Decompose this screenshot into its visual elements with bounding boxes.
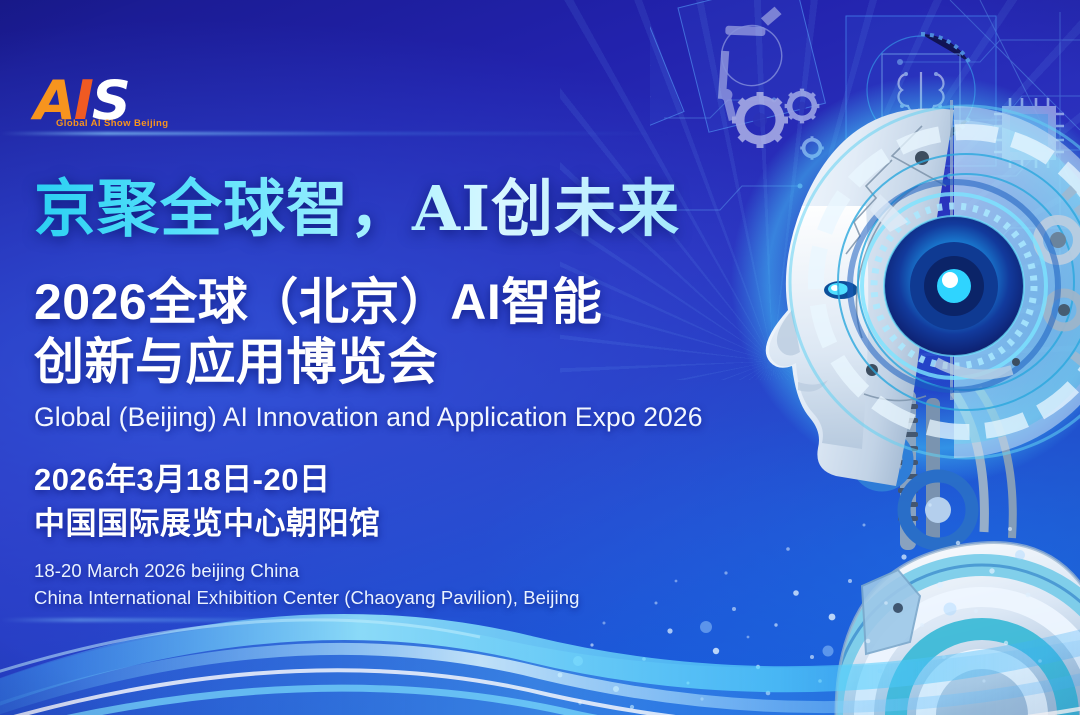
light-ribbons [0, 525, 1080, 715]
event-datetime-cn: 2026年3月18日-20日 中国国际展览中心朝阳馆 [34, 458, 381, 546]
event-title-line1: 2026全球（北京）AI智能 [34, 274, 602, 330]
logo-tagline: Global AI Show Beijing [56, 118, 168, 129]
event-title: 2026全球（北京）AI智能 创新与应用博览会 [34, 272, 714, 392]
event-date-cn: 2026年3月18日-20日 [34, 462, 331, 497]
event-title-english: Global (Beijing) AI Innovation and Appli… [34, 402, 703, 433]
event-venue-en: China International Exhibition Center (C… [34, 585, 579, 612]
event-title-line2: 创新与应用博览会 [34, 332, 714, 392]
event-datetime-en: 18-20 March 2026 beijing China China Int… [34, 558, 579, 612]
poster-banner: AIS Global AI Show Beijing 京聚全球智，AI创未来 2… [0, 0, 1080, 715]
event-date-en: 18-20 March 2026 beijing China [34, 560, 299, 581]
ais-logo[interactable]: AIS Global AI Show Beijing [34, 74, 214, 138]
event-venue-cn: 中国国际展览中心朝阳馆 [34, 502, 381, 546]
headline-slogan: 京聚全球智，AI创未来 [34, 176, 734, 241]
